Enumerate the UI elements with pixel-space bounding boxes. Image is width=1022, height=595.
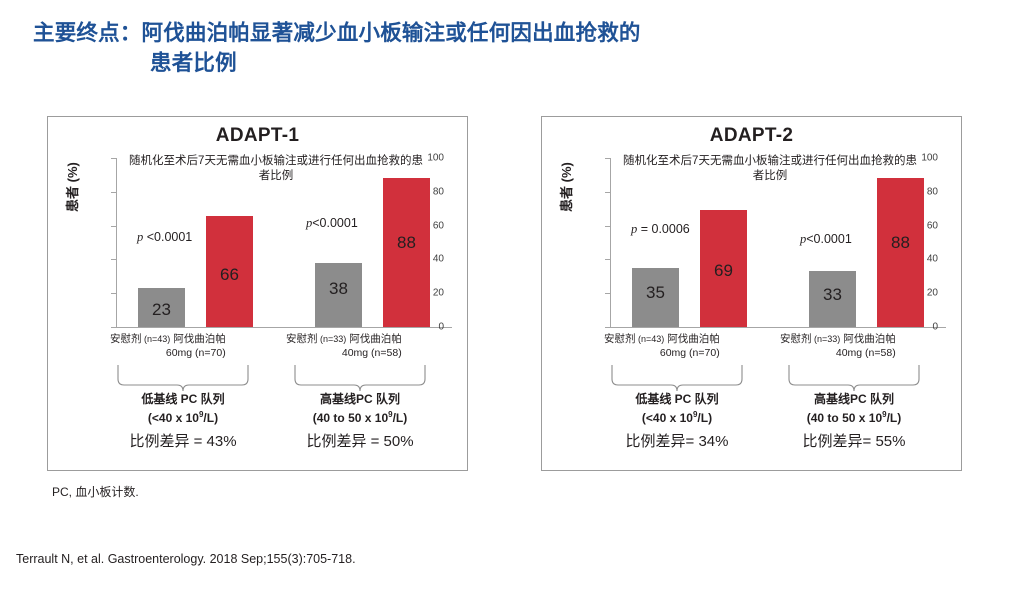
difference-label-low: 比例差异= 34% [607,430,747,451]
y-tick-40 [605,259,610,260]
plot-area-adapt1: 100 80 60 40 20 0 23 66 38 88 p <0.0001 … [116,158,452,328]
cohort-label-high: 高基线PC 队列 (40 to 50 x 109/L) [290,392,430,426]
x-axis-line [610,327,946,328]
x-label-drug: 阿伐曲泊帕 [843,333,896,345]
bar-value-placebo-high: 38 [315,279,362,299]
pvalue-high-cohort: p<0.0001 [800,232,852,247]
difference-label-low: 比例差异 = 43% [113,430,253,451]
x-label-drug: 阿伐曲泊帕 [667,333,720,345]
pvalue-text: <0.0001 [312,216,358,230]
cohort-range-pre: (<40 x 10 [642,411,693,425]
y-tick-label-100: 100 [921,153,938,164]
x-label-group-high: 安慰剂 (n=33) 阿伐曲泊帕 40mg (n=58) [780,332,896,360]
citation-reference: Terrault N, et al. Gastroenterology. 201… [16,552,356,566]
chart-title-adapt1: ADAPT-1 [48,125,467,147]
pvalue-low-cohort: p <0.0001 [137,230,192,245]
bar-value-placebo-high: 33 [809,285,856,305]
pvalue-high-cohort: p<0.0001 [306,216,358,231]
cohort-label-low: 低基线 PC 队列 (<40 x 109/L) [607,392,747,426]
y-tick-label-0: 0 [438,322,444,333]
footnote-abbreviations: PC, 血小板计数. [52,483,139,500]
chart-title-adapt2: ADAPT-2 [542,125,961,147]
bracket-high-cohort [293,365,427,391]
y-tick-label-0: 0 [932,322,938,333]
cohort-range-post: /L) [887,411,902,425]
y-tick-100 [111,158,116,159]
y-tick-20 [111,293,116,294]
x-label-placebo: 安慰剂 [286,333,318,345]
y-tick-label-40: 40 [433,254,444,265]
difference-label-high: 比例差异 = 50% [290,430,430,451]
bracket-low-cohort [610,365,744,391]
cohort-name: 高基线PC 队列 [814,392,894,406]
bar-placebo-low: 23 [138,288,185,327]
cohort-range-pre: (40 to 50 x 10 [807,411,882,425]
cohort-range-post: /L) [393,411,408,425]
y-tick-label-20: 20 [433,288,444,299]
bar-value-avatrombopag-high: 88 [383,233,430,253]
y-tick-80 [111,192,116,193]
bar-value-avatrombopag-low: 69 [700,261,747,281]
bar-placebo-low: 35 [632,268,679,327]
y-tick-label-80: 80 [433,186,444,197]
pvalue-text: <0.0001 [143,230,192,244]
bar-value-placebo-low: 23 [138,300,185,320]
y-tick-label-100: 100 [427,153,444,164]
x-label-placebo-n: (n=33) [812,334,841,344]
x-label-group-low: 安慰剂 (n=43) 阿伐曲泊帕 60mg (n=70) [604,332,720,360]
cohort-range-post: /L) [203,411,218,425]
x-label-drug: 阿伐曲泊帕 [173,333,226,345]
cohort-label-high: 高基线PC 队列 (40 to 50 x 109/L) [784,392,924,426]
x-axis-line [116,327,452,328]
pvalue-low-cohort: p = 0.0006 [631,222,690,237]
page-title-line2: 患者比例 [33,48,863,78]
pvalue-text: = 0.0006 [637,222,689,236]
y-tick-100 [605,158,610,159]
x-label-group-low: 安慰剂 (n=43) 阿伐曲泊帕 60mg (n=70) [110,332,226,360]
bar-avatrombopag-high: 88 [383,178,430,327]
cohort-name: 低基线 PC 队列 [635,392,718,406]
bar-value-avatrombopag-high: 88 [877,233,924,253]
y-tick-20 [605,293,610,294]
y-tick-60 [111,226,116,227]
y-tick-label-80: 80 [927,186,938,197]
page-title-line1: 主要终点：阿伐曲泊帕显著减少血小板输注或任何因出血抢救的 [33,21,641,45]
x-label-placebo: 安慰剂 [110,333,142,345]
bar-value-placebo-low: 35 [632,283,679,303]
x-label-drug-dose: 60mg (n=70) [110,346,226,360]
pvalue-text: <0.0001 [806,232,852,246]
x-label-drug-dose: 40mg (n=58) [286,346,402,360]
y-tick-label-60: 60 [927,220,938,231]
bar-placebo-high: 33 [809,271,856,327]
y-tick-label-40: 40 [927,254,938,265]
bar-value-avatrombopag-low: 66 [206,265,253,285]
y-tick-80 [605,192,610,193]
x-label-drug-dose: 60mg (n=70) [604,346,720,360]
cohort-name: 高基线PC 队列 [320,392,400,406]
bar-avatrombopag-high: 88 [877,178,924,327]
cohort-range-pre: (<40 x 10 [148,411,199,425]
y-tick-label-60: 60 [433,220,444,231]
difference-label-high: 比例差异= 55% [784,430,924,451]
page-title: 主要终点：阿伐曲泊帕显著减少血小板输注或任何因出血抢救的 患者比例 [33,18,863,78]
cohort-label-low: 低基线 PC 队列 (<40 x 109/L) [113,392,253,426]
bar-avatrombopag-low: 69 [700,210,747,327]
x-label-drug: 阿伐曲泊帕 [349,333,402,345]
y-tick-40 [111,259,116,260]
bar-placebo-high: 38 [315,263,362,327]
y-axis-label-adapt2: 患者 (%) [556,162,575,212]
bracket-low-cohort [116,365,250,391]
bracket-high-cohort [787,365,921,391]
y-axis-label-adapt1: 患者 (%) [62,162,81,212]
chart-panel-adapt2: ADAPT-2 随机化至术后7天无需血小板输注或进行任何出血抢救的患者比例 患者… [541,116,962,471]
y-tick-60 [605,226,610,227]
cohort-range-post: /L) [697,411,712,425]
y-tick-label-20: 20 [927,288,938,299]
bar-avatrombopag-low: 66 [206,216,253,328]
x-label-placebo-n: (n=43) [142,334,171,344]
x-label-placebo: 安慰剂 [780,333,812,345]
y-axis-line [610,158,611,328]
x-label-placebo-n: (n=33) [318,334,347,344]
y-tick-0 [111,327,116,328]
x-label-group-high: 安慰剂 (n=33) 阿伐曲泊帕 40mg (n=58) [286,332,402,360]
x-label-drug-dose: 40mg (n=58) [780,346,896,360]
chart-panel-adapt1: ADAPT-1 随机化至术后7天无需血小板输注或进行任何出血抢救的患者比例 患者… [47,116,468,471]
y-axis-line [116,158,117,328]
cohort-range-pre: (40 to 50 x 10 [313,411,388,425]
plot-area-adapt2: 100 80 60 40 20 0 35 69 33 88 p = 0.0006… [610,158,946,328]
y-tick-0 [605,327,610,328]
x-label-placebo: 安慰剂 [604,333,636,345]
x-label-placebo-n: (n=43) [636,334,665,344]
cohort-name: 低基线 PC 队列 [141,392,224,406]
